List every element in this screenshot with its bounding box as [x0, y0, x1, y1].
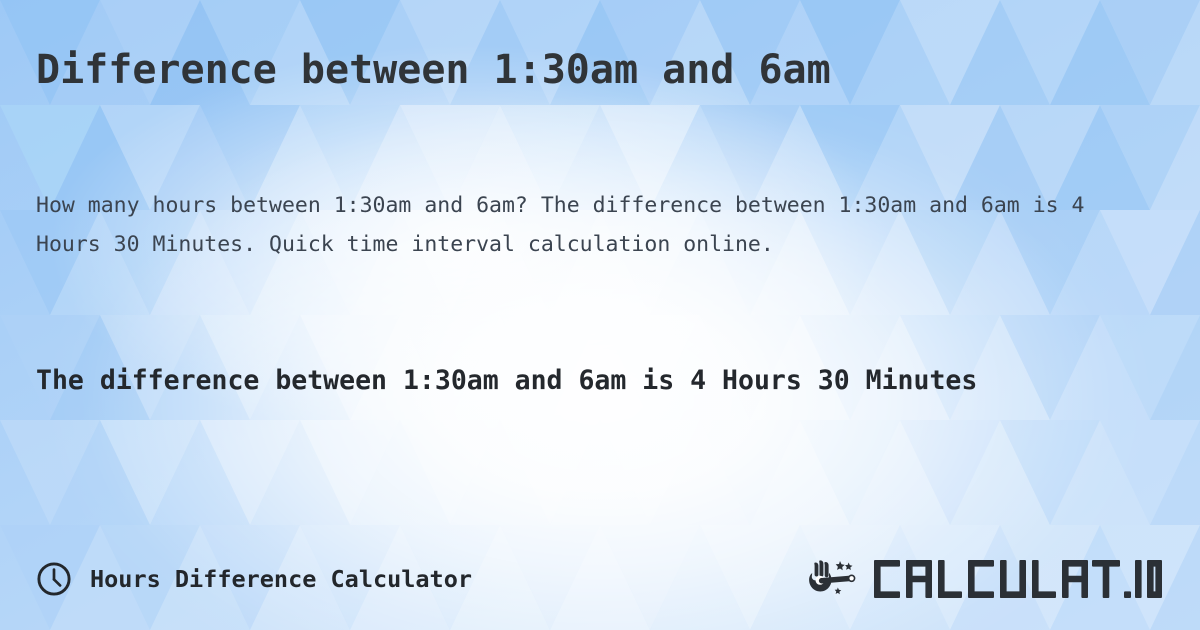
result-heading: The difference between 1:30am and 6am is… — [36, 356, 1116, 405]
logo-text-calculatio: CALCULAT.IO — [872, 558, 1164, 600]
footer-label: Hours Difference Calculator — [90, 565, 472, 593]
card-content: Difference between 1:30am and 6am How ma… — [0, 0, 1200, 630]
og-image-card: Difference between 1:30am and 6am How ma… — [0, 0, 1200, 630]
description-text: How many hours between 1:30am and 6am? T… — [36, 186, 1148, 264]
clock-icon — [36, 561, 72, 597]
page-title: Difference between 1:30am and 6am — [36, 44, 831, 96]
footer: Hours Difference Calculator — [36, 548, 1164, 610]
magic-wand-hand-icon — [807, 557, 863, 601]
site-logo[interactable]: CALCULAT.IO — [807, 557, 1164, 601]
footer-brand: Hours Difference Calculator — [36, 561, 472, 597]
